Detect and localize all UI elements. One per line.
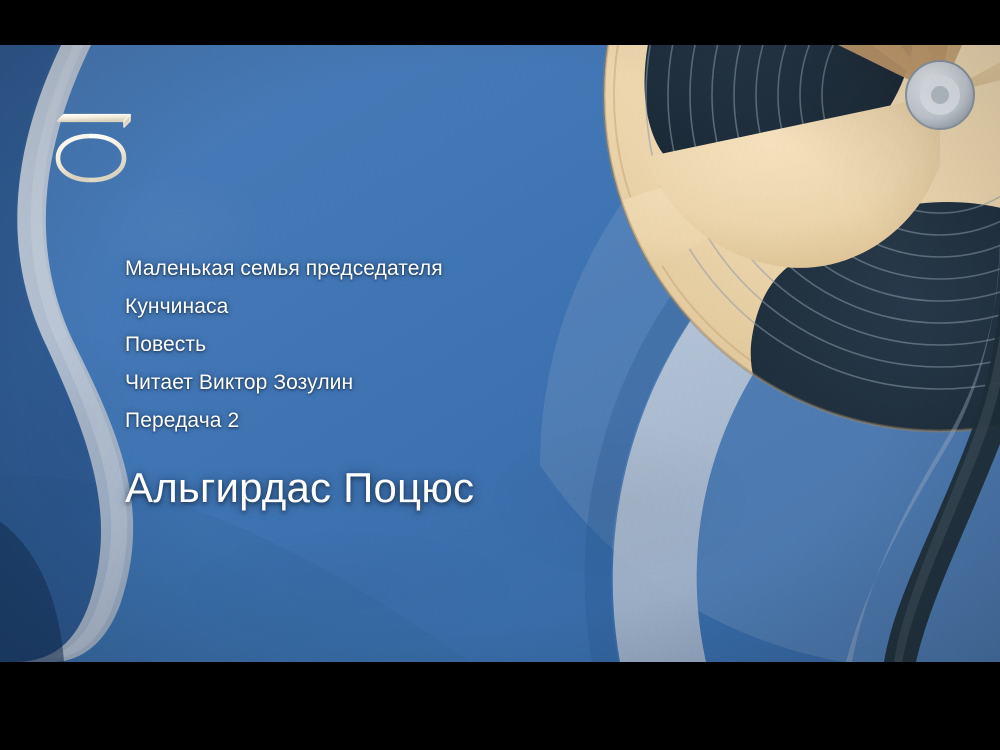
detail-line-title-2: Кунчинаса xyxy=(125,288,765,326)
video-frame: Маленькая семья председателя Кунчинаса П… xyxy=(0,0,1000,750)
gosteleradiofond-logo xyxy=(46,108,138,192)
cover-text-block: Маленькая семья председателя Кунчинаса П… xyxy=(125,250,765,514)
author-name: Альгирдас Поцюс xyxy=(125,462,765,514)
letterbox-bar-bottom xyxy=(0,662,1000,750)
detail-line-genre: Повесть xyxy=(125,326,765,364)
tf-monogram-icon xyxy=(46,108,138,192)
detail-line-title-1: Маленькая семья председателя xyxy=(125,250,765,288)
letterbox-bar-top xyxy=(0,0,1000,45)
detail-line-episode: Передача 2 xyxy=(125,402,765,440)
detail-line-narrator: Читает Виктор Зозулин xyxy=(125,364,765,402)
